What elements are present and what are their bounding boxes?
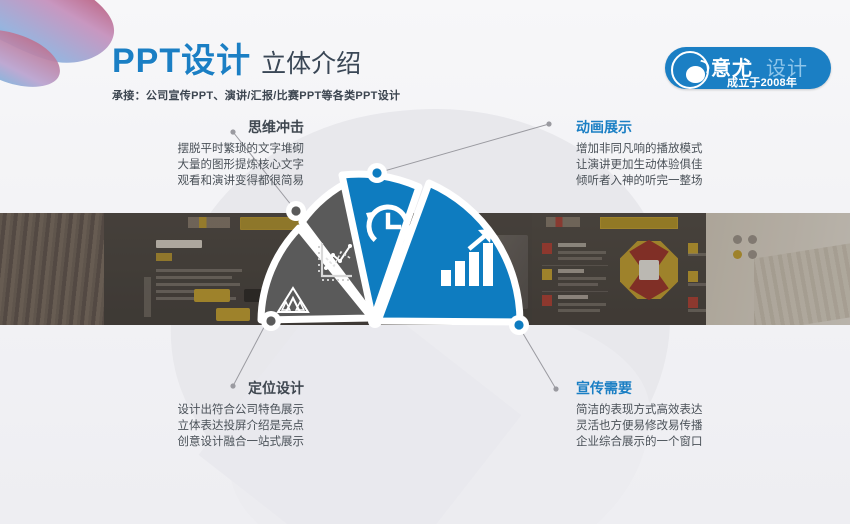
- callout-title: 宣传需要: [576, 381, 816, 395]
- callout-line: 增加非同凡响的播放模式: [576, 141, 816, 157]
- callout-line: 立体表达投屏介绍是亮点: [80, 418, 304, 434]
- slide-canvas: PPT设计立体介绍 承接：公司宣传PPT、演讲/汇报/比赛PPT等各类PPT设计…: [0, 0, 850, 524]
- endpoint-dot-promotion-needs: [553, 386, 558, 391]
- connector-promotion-needs: [518, 325, 556, 389]
- node-center-hub: [368, 314, 382, 328]
- callout-positioning-design: 定位设计 设计出符合公司特色展示 立体表达投屏介绍是亮点 创意设计融合一站式展示: [80, 381, 304, 450]
- callout-line: 大量的图形提炼核心文字: [80, 157, 304, 173]
- callout-line: 观看和演讲变得都很简易: [80, 173, 304, 189]
- callout-title: 动画展示: [576, 120, 816, 134]
- callout-animation-display: 动画展示 增加非同凡响的播放模式 让演讲更加生动体验俱佳 倾听者入神的听完一整场: [576, 120, 816, 189]
- callout-line: 灵活也方便易修改易传播: [576, 418, 816, 434]
- callout-mind-impact: 思维冲击 摆脱平时繁琐的文字堆砌 大量的图形提炼核心文字 观看和演讲变得都很简易: [80, 120, 304, 189]
- callout-line: 倾听者入神的听完一整场: [576, 173, 816, 189]
- callout-title: 思维冲击: [80, 120, 304, 134]
- callout-line: 让演讲更加生动体验俱佳: [576, 157, 816, 173]
- callout-line: 创意设计融合一站式展示: [80, 434, 304, 450]
- endpoint-dot-animation-display: [546, 121, 551, 126]
- callout-line: 摆脱平时繁琐的文字堆砌: [80, 141, 304, 157]
- callout-line: 设计出符合公司特色展示: [80, 402, 304, 418]
- callout-promotion-needs: 宣传需要 简洁的表现方式高效表达 灵活也方便易修改易传播 企业综合展示的一个窗口: [576, 381, 816, 450]
- callout-line: 企业综合展示的一个窗口: [576, 434, 816, 450]
- callout-line: 简洁的表现方式高效表达: [576, 402, 816, 418]
- connector-animation-display: [377, 124, 549, 173]
- callout-title: 定位设计: [80, 381, 304, 395]
